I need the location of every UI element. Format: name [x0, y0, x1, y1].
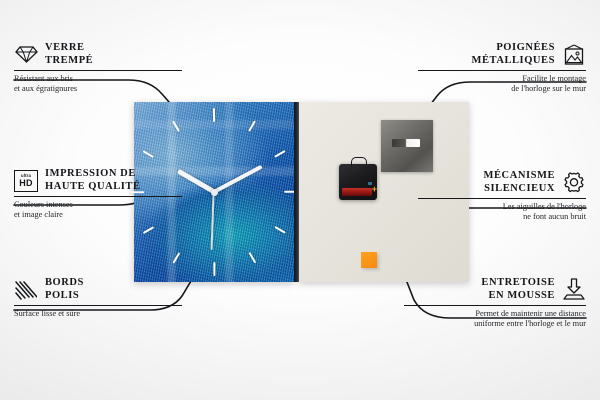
hanging-frame-icon: [562, 43, 586, 67]
feature-title: BORDSPOLIS: [45, 277, 182, 302]
feature-bords-polis: BORDSPOLIS Surface lisse et sûre: [14, 277, 182, 319]
feature-title: VERRETREMPÉ: [45, 42, 182, 67]
clock-hour-hand: [176, 169, 215, 194]
feature-description: Les aiguilles de l'horlogene font aucun …: [418, 202, 586, 223]
clock-tick-11: [172, 120, 180, 132]
clock-center-cap: [211, 189, 218, 196]
feature-entretoise-en-mousse: ENTRETOISEEN MOUSSE Permet de maintenir …: [404, 277, 586, 330]
feature-verre-trempe: VERRETREMPÉ Résistant aux briset aux égr…: [14, 42, 182, 95]
feature-divider: [14, 305, 182, 306]
feature-divider: [418, 198, 586, 199]
clock-tick-10: [142, 150, 154, 158]
clock-tick-8: [142, 226, 154, 234]
down-arrow-pad-icon: [562, 278, 586, 302]
feature-description: Permet de maintenir une distanceuniforme…: [404, 309, 586, 330]
clock-tick-4: [274, 226, 286, 234]
feature-header: ENTRETOISEEN MOUSSE: [404, 277, 586, 302]
clock-second-hand: [211, 192, 215, 250]
feature-header: ultra HD IMPRESSION DEHAUTE QUALITÉ: [14, 168, 182, 193]
infographic-canvas: VERRETREMPÉ Résistant aux briset aux égr…: [0, 0, 600, 400]
battery: [342, 188, 372, 196]
feature-title: POIGNÉESMÉTALLIQUES: [418, 42, 555, 67]
feature-header: BORDSPOLIS: [14, 277, 182, 302]
feature-impression-haute-qualite: ultra HD IMPRESSION DEHAUTE QUALITÉ Coul…: [14, 168, 182, 221]
gear-icon: [562, 171, 586, 195]
feature-divider: [14, 196, 182, 197]
feature-description: Couleurs intenseset image claire: [14, 200, 182, 221]
foam-spacer: [361, 252, 377, 268]
clock-tick-2: [274, 150, 286, 158]
mechanism-hanger-loop: [351, 157, 367, 167]
clock-tick-12: [213, 108, 215, 122]
clock-tick-6: [213, 262, 215, 276]
feature-header: VERRETREMPÉ: [14, 42, 182, 67]
feature-header: POIGNÉESMÉTALLIQUES: [418, 42, 586, 67]
diamond-icon: [14, 43, 38, 67]
clock-minute-hand: [213, 165, 263, 194]
clock-tick-1: [248, 120, 256, 132]
feature-description: Résistant aux briset aux égratignures: [14, 74, 182, 95]
feature-title: MÉCANISMESILENCIEUX: [418, 170, 555, 195]
feature-description: Facilite le montagede l'horloge sur le m…: [418, 74, 586, 95]
feature-header: MÉCANISMESILENCIEUX: [418, 170, 586, 195]
feature-divider: [14, 70, 182, 71]
feature-title: ENTRETOISEEN MOUSSE: [404, 277, 555, 302]
polished-edges-icon: [14, 278, 38, 302]
feature-mecanisme-silencieux: MÉCANISMESILENCIEUX Les aiguilles de l'h…: [418, 170, 586, 223]
feature-divider: [404, 305, 586, 306]
metal-hanger-plate: [381, 120, 433, 172]
feature-poignees-metalliques: POIGNÉESMÉTALLIQUES Facilite le montaged…: [418, 42, 586, 95]
feature-title: IMPRESSION DEHAUTE QUALITÉ: [45, 168, 182, 193]
ultra-hd-badge-icon: ultra HD: [14, 169, 38, 193]
feature-divider: [418, 70, 586, 71]
quartz-mechanism: [339, 164, 377, 200]
clock-tick-5: [248, 252, 256, 264]
feature-description: Surface lisse et sûre: [14, 309, 182, 319]
clock-tick-7: [172, 252, 180, 264]
